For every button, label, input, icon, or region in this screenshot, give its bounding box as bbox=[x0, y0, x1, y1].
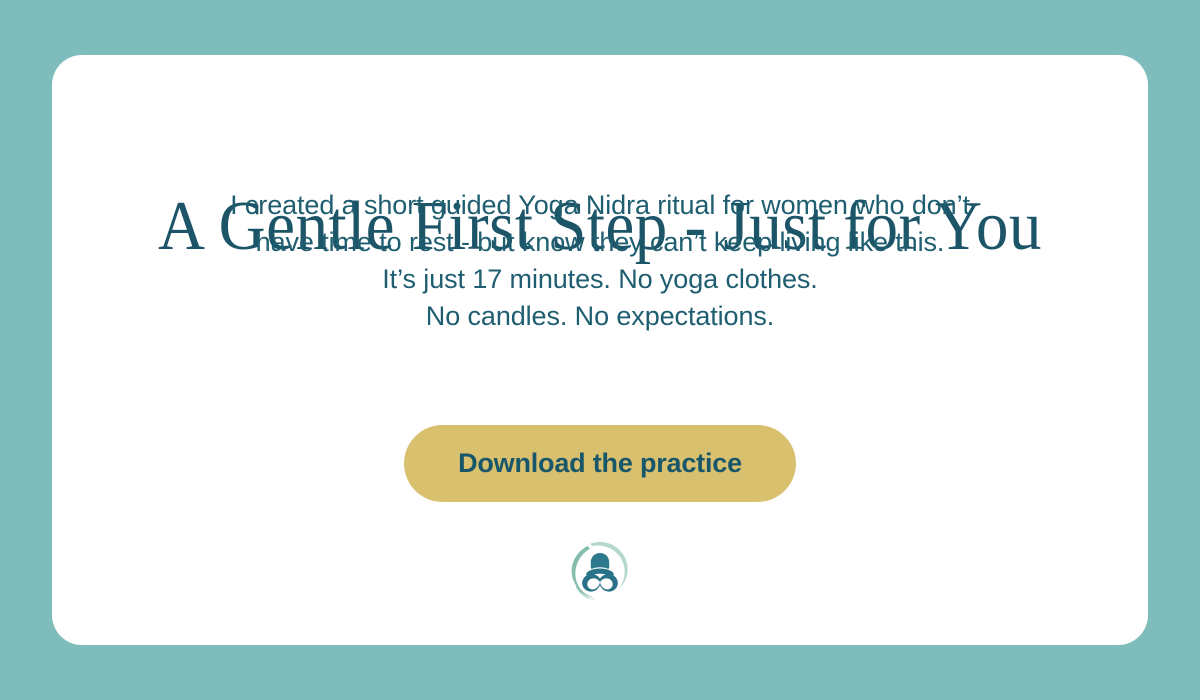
meditation-lotus-logo-icon bbox=[567, 540, 633, 602]
body-copy-line-2: have time to rest - but know they can’t … bbox=[52, 224, 1148, 261]
body-copy-line-4: No candles. No expectations. bbox=[52, 298, 1148, 335]
cta-container: Download the practice bbox=[52, 425, 1148, 502]
logo-container bbox=[52, 540, 1148, 602]
body-copy: I created a short guided Yoga Nidra ritu… bbox=[52, 187, 1148, 335]
body-copy-line-1: I created a short guided Yoga Nidra ritu… bbox=[52, 187, 1148, 224]
body-copy-line-3: It’s just 17 minutes. No yoga clothes. bbox=[52, 261, 1148, 298]
download-the-practice-button[interactable]: Download the practice bbox=[404, 425, 796, 502]
content-card: A Gentle First Step - Just for You I cre… bbox=[52, 55, 1148, 645]
page-canvas: A Gentle First Step - Just for You I cre… bbox=[0, 0, 1200, 700]
